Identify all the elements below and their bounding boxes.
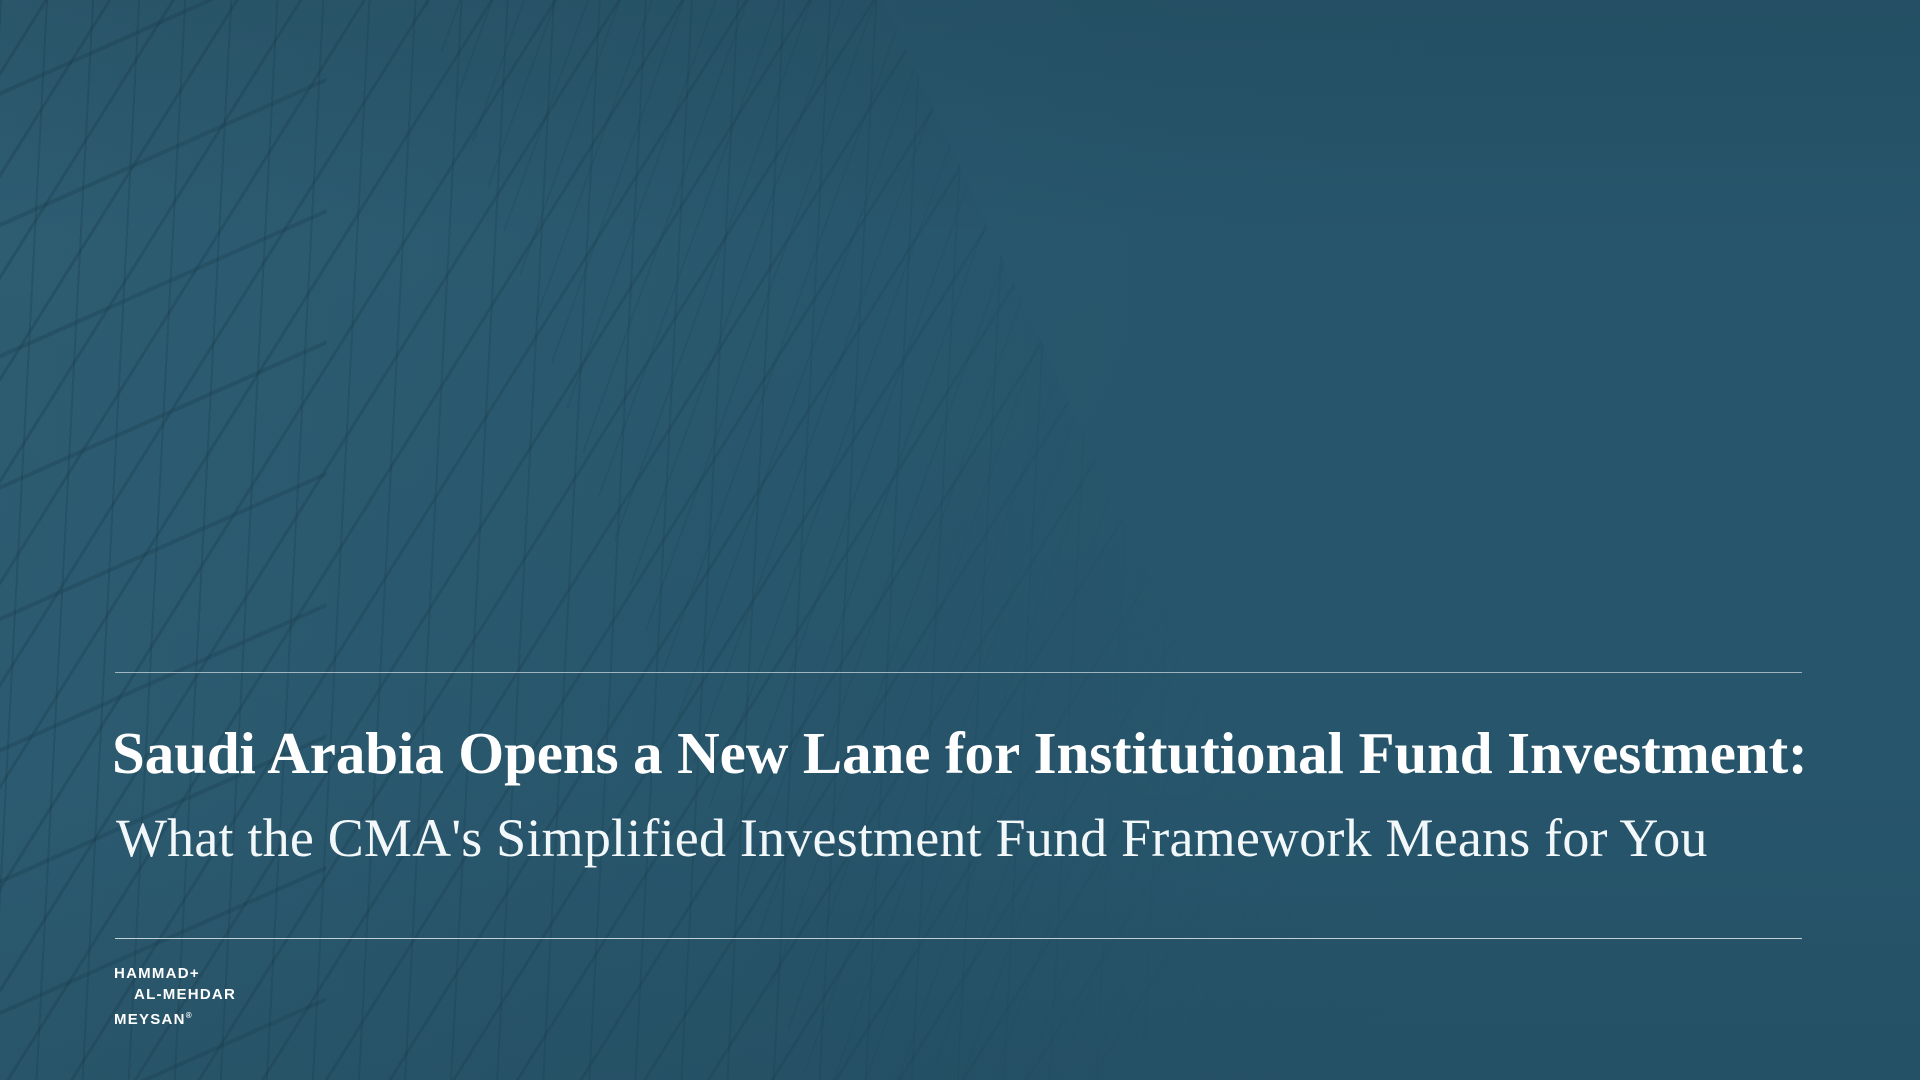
logo-word-meysan: MEYSAN [114,1011,186,1028]
slide-title: Saudi Arabia Opens a New Lane for Instit… [112,722,1808,785]
slide-content: Saudi Arabia Opens a New Lane for Instit… [0,0,1920,1080]
divider-top [115,672,1802,673]
logo-line-hammad: HAMMAD+ [114,963,236,984]
logo-line-meysan: MEYSAN® [114,1005,236,1030]
divider-bottom [115,938,1802,939]
firm-logo: HAMMAD+ AL-MEHDAR MEYSAN® [114,963,236,1030]
logo-line-al-mehdar: AL-MEHDAR [114,984,236,1005]
registered-trademark-icon: ® [186,1011,192,1020]
title-slide: Saudi Arabia Opens a New Lane for Instit… [0,0,1920,1080]
slide-subtitle: What the CMA's Simplified Investment Fun… [116,810,1708,867]
